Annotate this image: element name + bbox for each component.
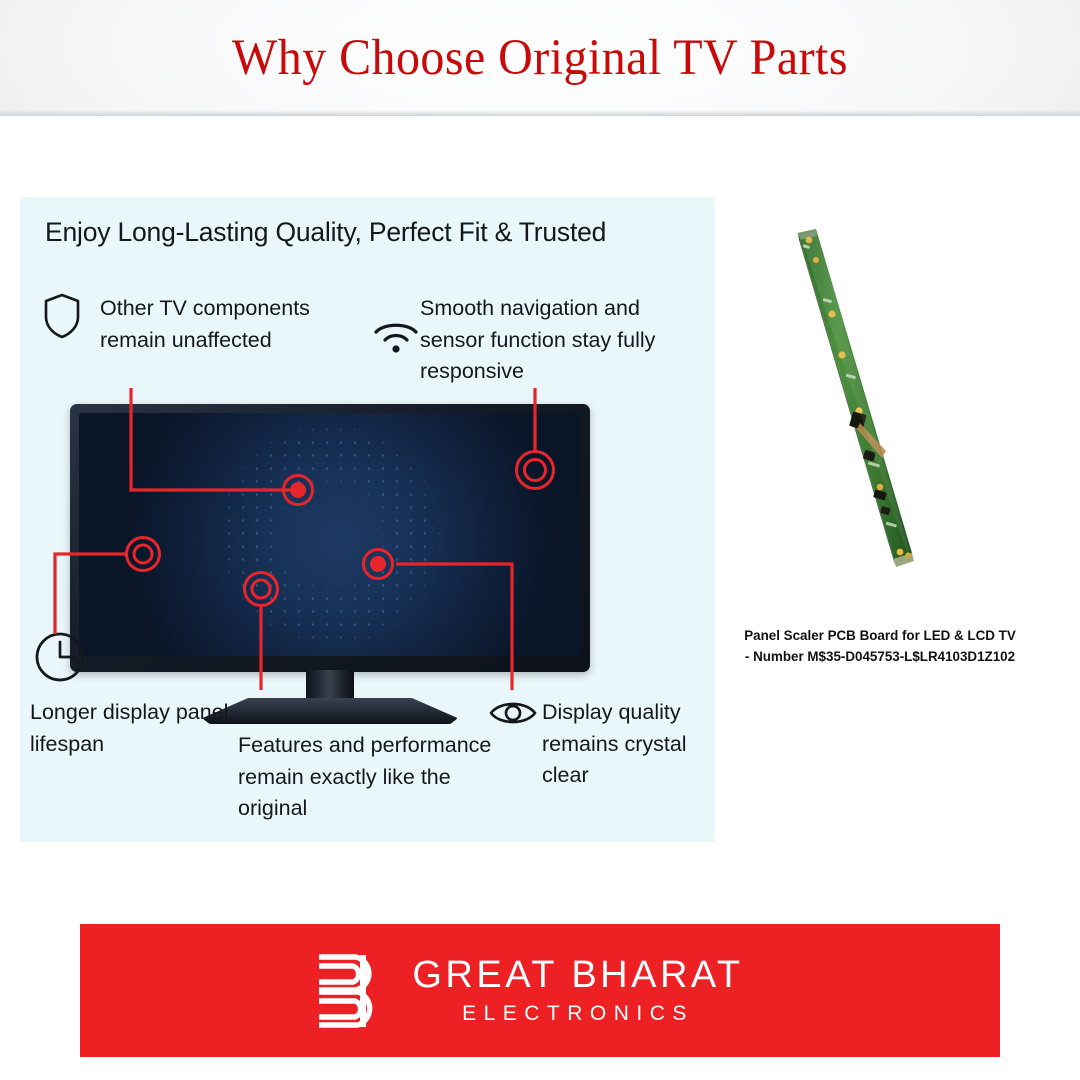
great-bharat-b-logo-icon [316,952,384,1030]
footer-banner: GREAT BHARAT ELECTRONICS [80,924,1000,1057]
product-caption-line2: - Number M$35-D045753-L$LR4103D1Z102 [700,647,1060,668]
panel-heading: Enjoy Long-Lasting Quality, Perfect Fit … [45,217,606,248]
product-caption-line1: Panel Scaler PCB Board for LED & LCD TV [700,626,1060,647]
tv-screen [79,413,581,656]
tv-bezel [70,404,590,672]
feature-label-smooth-navigation: Smooth navigation and sensor function st… [420,293,670,388]
wifi-icon [372,319,420,355]
shield-icon [43,293,81,339]
brand-subtitle: ELECTRONICS [462,1003,694,1025]
page-header: Why Choose Original TV Parts [0,0,1080,116]
feature-label-display-quality: Display quality remains crystal clear [542,697,732,792]
tv-illustration [70,404,590,704]
eye-icon [488,697,538,729]
feature-label-longer-lifespan: Longer display panel lifespan [30,697,230,760]
tv-screen-dot-pattern [180,413,480,656]
infographic-panel: Enjoy Long-Lasting Quality, Perfect Fit … [20,197,715,842]
brand-name: GREAT BHARAT [412,956,743,996]
feature-label-other-components: Other TV components remain unaffected [100,293,340,356]
feature-label-features-performance: Features and performance remain exactly … [238,730,518,825]
pcb-board-photo [760,215,960,585]
clock-icon [34,631,86,683]
product-image [760,215,960,585]
product-caption: Panel Scaler PCB Board for LED & LCD TV … [700,626,1060,668]
page-title: Why Choose Original TV Parts [32,0,1047,116]
tv-stand-base [202,698,458,724]
